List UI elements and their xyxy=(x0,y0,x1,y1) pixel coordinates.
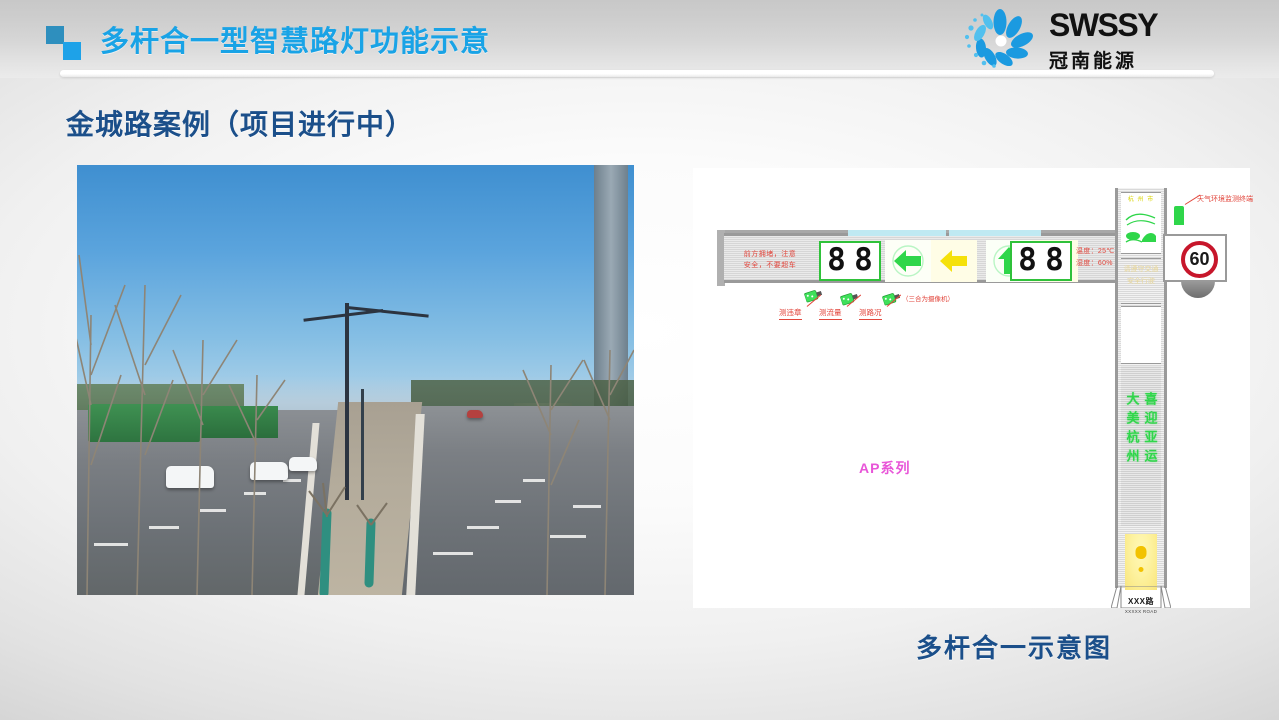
banner-column-left: 大美杭州 xyxy=(1125,392,1140,526)
square-dark-icon xyxy=(46,26,64,44)
pole-base-foot xyxy=(1111,586,1171,608)
multi-pole-diagram: 前方拥堵，注意 安全，不要超车 8 8 xyxy=(693,168,1250,608)
pole-cross-arm: 60 xyxy=(1163,234,1227,282)
vms-line-2: 安全，不要超车 xyxy=(732,260,808,271)
pole-led-banner: 喜迎亚运 大美杭州 xyxy=(1121,366,1161,526)
camera-label-1: 测违章 xyxy=(779,307,802,320)
section-subtitle: 金城路案例（项目进行中） xyxy=(66,103,414,143)
lamp-dot-icon xyxy=(1139,567,1144,572)
photo-trees xyxy=(77,165,634,595)
camera-note: （三合为摄像机） xyxy=(902,293,954,303)
weather-sensor-icon xyxy=(1174,206,1184,225)
arrow-left-yellow-icon xyxy=(937,244,971,278)
smart-pole-column: 杭 州 市 请遵守交通 安全行驶 喜迎亚运 大美杭州 XXX路 XXXXX RO… xyxy=(1115,188,1167,588)
digit: 8 xyxy=(1042,244,1067,278)
countdown-display-right: 8 8 xyxy=(1010,241,1072,281)
street-name-en: XXXXX ROAD xyxy=(1121,609,1161,614)
logo-splash-icon xyxy=(957,8,1043,70)
logo-wordmark: SWSSY xyxy=(1049,9,1157,41)
signal-group-header-left xyxy=(848,230,946,236)
speed-limit-sign: 60 xyxy=(1181,241,1218,278)
gantry-beam: 前方拥堵，注意 安全，不要超车 8 8 xyxy=(724,233,1160,283)
header-decoration-squares xyxy=(46,26,86,60)
site-photo xyxy=(77,165,634,595)
logo-company-name: 冠南能源 xyxy=(1049,46,1157,73)
dome-camera-icon xyxy=(1181,281,1215,298)
weather-sensor-label: 天气环境监测终端 xyxy=(1197,194,1253,204)
signal-group-header-right xyxy=(949,230,1041,236)
vms-line-1: 前方拥堵，注意 xyxy=(732,249,808,260)
page-header: 多杆合一型智慧路灯功能示意 SWSSY xyxy=(0,0,1279,78)
vms-message-panel: 前方拥堵，注意 安全，不要超车 xyxy=(732,242,808,278)
pole-safety-line-1: 请遵守交通 xyxy=(1121,264,1161,276)
banner-column-right: 喜迎亚运 xyxy=(1143,392,1158,526)
logo-text-block: SWSSY 冠南能源 xyxy=(1049,9,1157,73)
page-title: 多杆合一型智慧路灯功能示意 xyxy=(100,18,490,60)
ap-series-label: AP系列 xyxy=(859,458,910,478)
company-logo: SWSSY 冠南能源 xyxy=(957,4,1217,72)
lane-signal-left-green xyxy=(885,240,931,282)
countdown-display-left: 8 8 xyxy=(819,241,881,281)
pole-safety-line-2: 安全行驶 xyxy=(1121,276,1161,288)
digit: 8 xyxy=(851,244,876,278)
pole-safety-slogan: 请遵守交通 安全行驶 xyxy=(1121,264,1161,288)
pole-lamp-panel xyxy=(1125,534,1157,590)
pole-blank-panel xyxy=(1121,306,1161,364)
digit: 8 xyxy=(824,244,849,278)
diagram-caption: 多杆合一示意图 xyxy=(916,628,1112,665)
lamp-glow-icon xyxy=(1136,546,1147,559)
arrow-left-green-icon xyxy=(891,244,925,278)
digit: 8 xyxy=(1015,244,1040,278)
camera-icon xyxy=(882,291,902,307)
camera-label-2: 测流量 xyxy=(819,307,842,320)
camera-label-3: 测路况 xyxy=(859,307,882,320)
square-light-icon xyxy=(63,42,81,60)
pole-city-title: 杭 州 市 xyxy=(1121,194,1161,203)
lane-signal-left-yellow xyxy=(931,240,977,282)
scenery-graphic-icon xyxy=(1124,204,1158,248)
